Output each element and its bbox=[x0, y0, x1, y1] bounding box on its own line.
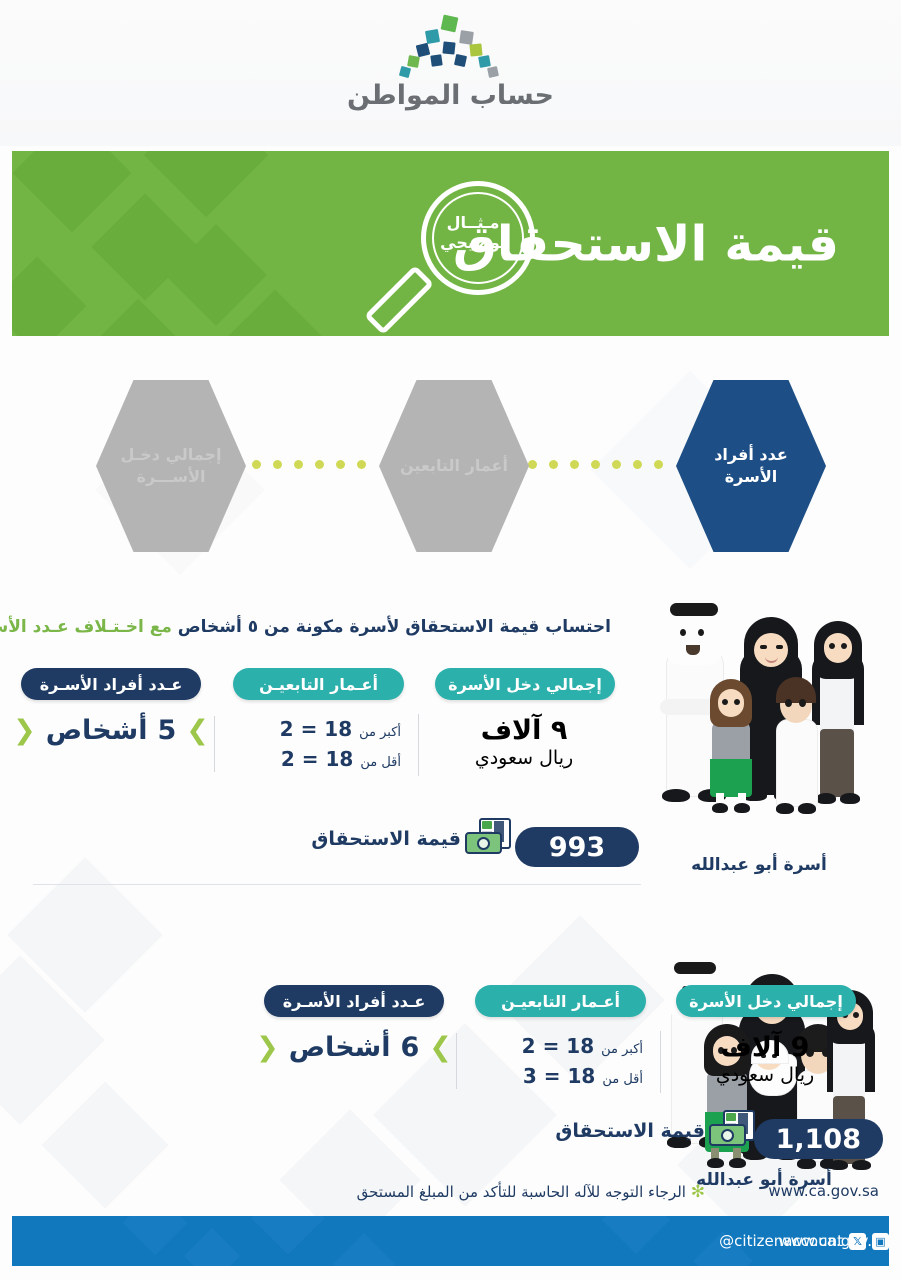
members-count: 6 bbox=[400, 1033, 419, 1063]
mosaic-a-logo-icon bbox=[396, 14, 506, 76]
chevron-right-icon: ❯ bbox=[429, 1034, 452, 1061]
ages-value-group: أكبر من 18 = 2 أقل من 18 = 2 bbox=[233, 714, 401, 774]
column-pill-income[interactable]: إجمالي دخل الأسرة bbox=[435, 668, 615, 700]
column-pill-ages[interactable]: أعـمار التابعيـن bbox=[233, 668, 404, 700]
income-amount: ٩ آلاف bbox=[433, 716, 615, 746]
column-pill-ages[interactable]: أعـمار التابعيـن bbox=[475, 985, 646, 1017]
income-currency: ريال سعودي bbox=[433, 746, 615, 771]
ages-value-group: أكبر من 18 = 2 أقل من 18 = 3 bbox=[475, 1031, 643, 1091]
calculator-note: ✻ الرجاء التوجه للآله الحاسبة للتأكد من … bbox=[357, 1182, 705, 1202]
stepper-dots bbox=[528, 460, 663, 469]
step-hex-family-income[interactable]: إجمالي دخـل الأســـرة bbox=[96, 380, 246, 552]
family-illustration-5 bbox=[648, 595, 873, 825]
income-amount: 9 آلاف bbox=[674, 1033, 856, 1063]
benefit-label: قيمة الاستحقاق bbox=[311, 828, 461, 850]
column-pill-members[interactable]: عـدد أفراد الأسـرة bbox=[21, 668, 201, 700]
income-value-group: ٩ آلاف ريال سعودي bbox=[433, 716, 615, 770]
age-threshold: 18 bbox=[324, 717, 352, 741]
social-handle[interactable]: @citizenaccount bbox=[719, 1232, 843, 1250]
benefit-label: قيمة الاستحقاق bbox=[555, 1120, 705, 1142]
chevron-left-icon: ❮ bbox=[256, 1034, 279, 1061]
equals-sign: = bbox=[543, 1034, 560, 1058]
members-value-group: ❯ 5 أشخاص ❮ bbox=[21, 716, 201, 746]
title-banner: مـثــال توضيحي قيمة الاستحقاق bbox=[12, 151, 889, 336]
stepper: عدد أفراد الأسرة أعمار التابعين إجمالي د… bbox=[0, 368, 901, 558]
asterisk-icon: ✻ bbox=[691, 1182, 705, 1202]
age-count: 3 bbox=[523, 1064, 537, 1088]
twitter-icon[interactable]: 𝕏 bbox=[849, 1233, 866, 1250]
age-row-over18: أكبر من 18 = 2 bbox=[475, 1031, 643, 1061]
age-row-under18: أقل من 18 = 3 bbox=[475, 1061, 643, 1091]
age-threshold: 18 bbox=[568, 1064, 596, 1088]
step-hex-dependent-ages[interactable]: أعمار التابعين bbox=[379, 380, 529, 552]
equals-sign: = bbox=[302, 747, 319, 771]
age-label-over: أكبر من bbox=[601, 1042, 643, 1057]
income-value-group: 9 آلاف ريال سعودي bbox=[674, 1033, 856, 1087]
age-count: 2 bbox=[281, 747, 295, 771]
equals-sign: = bbox=[301, 717, 318, 741]
note-text: الرجاء التوجه للآله الحاسبة للتأكد من ال… bbox=[357, 1183, 686, 1201]
equals-sign: = bbox=[544, 1064, 561, 1088]
page-footer: www.ca.gov.sa @citizenaccount 𝕏 ▣ bbox=[12, 1216, 889, 1266]
step-label: أعمار التابعين bbox=[400, 455, 508, 477]
benefit-amount-chip: 1,108 bbox=[754, 1119, 883, 1159]
age-label-over: أكبر من bbox=[359, 725, 401, 740]
step-hex-family-members[interactable]: عدد أفراد الأسرة bbox=[676, 380, 826, 552]
watermark-square bbox=[41, 1081, 168, 1208]
brand-name: حساب المواطن bbox=[347, 80, 554, 111]
inline-url[interactable]: www.ca.gov.sa bbox=[768, 1182, 879, 1200]
watermark-square bbox=[7, 857, 163, 1013]
column-divider bbox=[456, 1033, 457, 1089]
step-label: إجمالي دخـل الأســـرة bbox=[121, 444, 222, 487]
watermark-square bbox=[0, 955, 105, 1125]
case-headline: احتساب قيمة الاستحقاق لأسرة مكونة من ٥ أ… bbox=[0, 617, 611, 637]
figure-boy bbox=[768, 671, 824, 819]
step-label: عدد أفراد الأسرة bbox=[690, 444, 812, 487]
calculator-money-icon bbox=[709, 1110, 753, 1150]
column-pill-income[interactable]: إجمالي دخل الأسرة bbox=[676, 985, 856, 1017]
column-divider bbox=[214, 716, 215, 772]
age-threshold: 18 bbox=[566, 1034, 594, 1058]
page-title: قيمة الاستحقاق bbox=[453, 215, 839, 272]
age-count: 2 bbox=[522, 1034, 536, 1058]
infographic-page: حساب المواطن مـثــال توضيحي قيمة الاستحق… bbox=[0, 0, 901, 1280]
headline-highlight: مع اخـتـلاف عـدد الأسـرة bbox=[0, 617, 172, 637]
age-row-under18: أقل من 18 = 2 bbox=[233, 744, 401, 774]
income-currency: ريال سعودي bbox=[674, 1063, 856, 1088]
age-label-under: أقل من bbox=[602, 1072, 643, 1087]
headline-plain: احتساب قيمة الاستحقاق لأسرة مكونة من ٥ أ… bbox=[178, 617, 611, 637]
members-unit: أشخاص bbox=[289, 1033, 391, 1063]
column-pill-members[interactable]: عـدد أفراد الأسـرة bbox=[264, 985, 444, 1017]
members-count: 5 bbox=[157, 716, 176, 746]
chevron-left-icon: ❮ bbox=[13, 717, 36, 744]
section-divider bbox=[33, 884, 641, 885]
stepper-dots bbox=[231, 460, 366, 469]
column-divider bbox=[418, 714, 419, 776]
page-header: حساب المواطن bbox=[0, 0, 901, 146]
brand-logo: حساب المواطن bbox=[0, 14, 901, 111]
age-count: 2 bbox=[280, 717, 294, 741]
instagram-icon[interactable]: ▣ bbox=[872, 1233, 889, 1250]
age-row-over18: أكبر من 18 = 2 bbox=[233, 714, 401, 744]
age-threshold: 18 bbox=[326, 747, 354, 771]
members-unit: أشخاص bbox=[46, 716, 148, 746]
footer-social: @citizenaccount 𝕏 ▣ bbox=[719, 1232, 889, 1250]
members-value-group: ❯ 6 أشخاص ❮ bbox=[264, 1033, 444, 1063]
age-label-under: أقل من bbox=[360, 755, 401, 770]
figure-girl bbox=[704, 673, 758, 813]
family-caption: أسرة أبو عبدالله bbox=[639, 855, 879, 875]
benefit-amount-chip: 993 bbox=[515, 827, 639, 867]
chevron-right-icon: ❯ bbox=[186, 717, 209, 744]
calculator-money-icon bbox=[465, 818, 509, 858]
